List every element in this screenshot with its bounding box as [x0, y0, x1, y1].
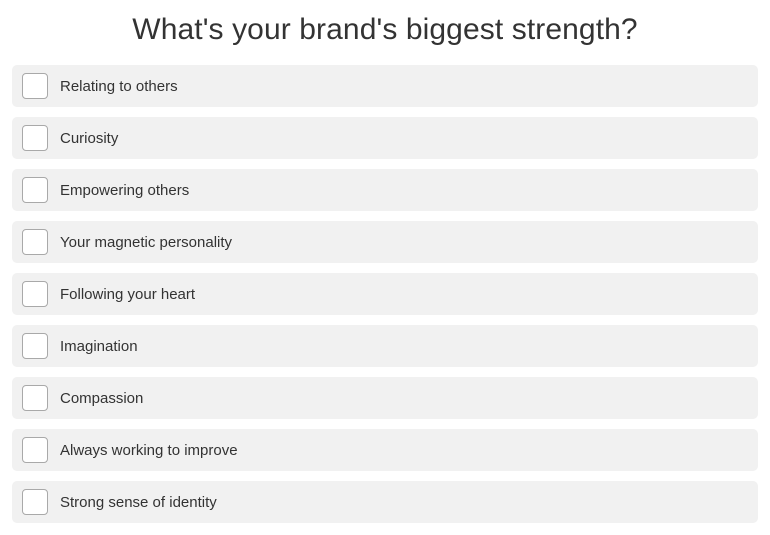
option-row-7[interactable]: Always working to improve	[12, 429, 758, 471]
option-label: Empowering others	[60, 183, 189, 198]
survey-page: What's your brand's biggest strength? Re…	[0, 0, 770, 535]
checkbox-icon[interactable]	[22, 177, 48, 203]
option-label: Curiosity	[60, 131, 118, 146]
option-row-6[interactable]: Compassion	[12, 377, 758, 419]
checkbox-icon[interactable]	[22, 281, 48, 307]
option-label: Strong sense of identity	[60, 495, 217, 510]
checkbox-icon[interactable]	[22, 385, 48, 411]
checkbox-icon[interactable]	[22, 73, 48, 99]
checkbox-icon[interactable]	[22, 229, 48, 255]
option-label: Following your heart	[60, 287, 195, 302]
option-row-2[interactable]: Empowering others	[12, 169, 758, 211]
option-row-8[interactable]: Strong sense of identity	[12, 481, 758, 523]
option-label: Always working to improve	[60, 443, 238, 458]
page-title: What's your brand's biggest strength?	[0, 0, 770, 48]
option-row-5[interactable]: Imagination	[12, 325, 758, 367]
checkbox-icon[interactable]	[22, 437, 48, 463]
option-label: Imagination	[60, 339, 138, 354]
option-row-3[interactable]: Your magnetic personality	[12, 221, 758, 263]
options-list: Relating to others Curiosity Empowering …	[0, 65, 770, 523]
checkbox-icon[interactable]	[22, 489, 48, 515]
option-label: Relating to others	[60, 79, 178, 94]
option-label: Compassion	[60, 391, 143, 406]
option-row-1[interactable]: Curiosity	[12, 117, 758, 159]
option-row-0[interactable]: Relating to others	[12, 65, 758, 107]
option-row-4[interactable]: Following your heart	[12, 273, 758, 315]
checkbox-icon[interactable]	[22, 125, 48, 151]
checkbox-icon[interactable]	[22, 333, 48, 359]
option-label: Your magnetic personality	[60, 235, 232, 250]
